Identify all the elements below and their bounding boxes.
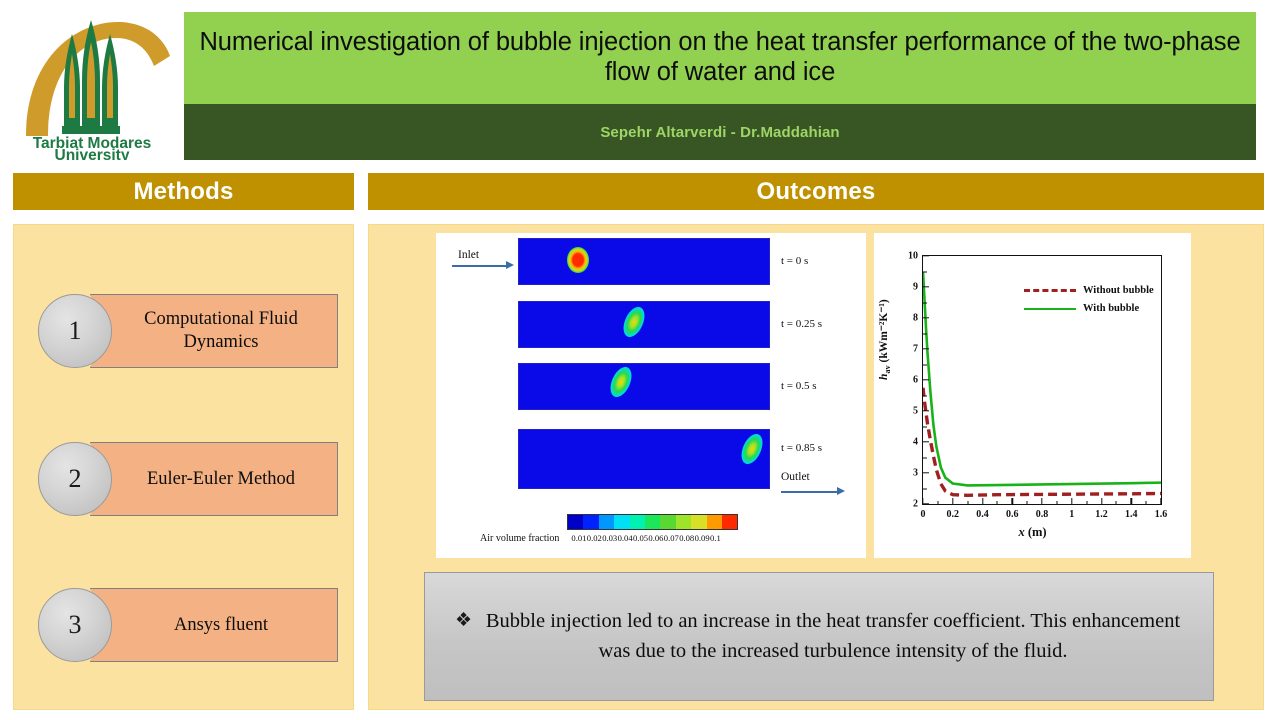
x-tick-minor	[937, 501, 938, 505]
page-title: Numerical investigation of bubble inject…	[198, 28, 1242, 87]
methods-section-header: Methods	[13, 173, 354, 210]
y-tick-mark-7	[923, 348, 929, 349]
time-label-1: t = 0.25 s	[781, 318, 822, 330]
colorbar-tick-2: 0.03	[602, 533, 617, 543]
colorbar-tick-7: 0.08	[679, 533, 694, 543]
colorbar-segment-5	[645, 515, 660, 529]
y-tick-label-7: 7	[913, 344, 918, 355]
conclusion-box: ❖ Bubble injection led to an increase in…	[424, 572, 1214, 701]
y-tick-minor	[923, 488, 927, 489]
x-tick-label-0.6: 0.6	[1006, 509, 1019, 520]
x-tick-minor	[1146, 501, 1147, 505]
y-tick-minor	[923, 271, 927, 272]
contour-figure: Inlet t = 0 s t = 0.25 s t = 0.5 s t = 0…	[436, 233, 866, 558]
contour-panel-2	[518, 363, 770, 410]
colorbar-tick-8: 0.09	[695, 533, 710, 543]
methods-panel: Computational Fluid Dynamics 1 Euler-Eul…	[13, 224, 354, 710]
x-tick-mark-1.4	[1131, 498, 1132, 504]
x-tick-mark-0.6	[1012, 498, 1013, 504]
bubble-blob-0	[567, 247, 589, 273]
colorbar-segment-10	[722, 515, 737, 529]
x-tick-label-1: 1	[1069, 509, 1074, 520]
method-label-3: Ansys fluent	[174, 614, 268, 637]
colorbar-segment-3	[614, 515, 629, 529]
y-tick-mark-5	[923, 410, 929, 411]
x-tick-mark-0.8	[1041, 498, 1042, 504]
method-label-1: Computational Fluid Dynamics	[117, 308, 325, 353]
legend-entry-with-bubble: With bubble	[1024, 303, 1139, 314]
x-tick-label-1.6: 1.6	[1155, 509, 1168, 520]
poster-title-bar: Numerical investigation of bubble inject…	[184, 12, 1256, 104]
colorbar-segment-7	[676, 515, 691, 529]
x-tick-minor	[1056, 501, 1057, 505]
x-tick-label-0.2: 0.2	[947, 509, 960, 520]
y-tick-mark-3	[923, 472, 929, 473]
bubble-blob-3	[737, 431, 766, 468]
y-tick-label-4: 4	[913, 437, 918, 448]
colorbar-tick-9: 0.1	[710, 533, 721, 543]
colorbar-segment-2	[599, 515, 614, 529]
y-tick-label-3: 3	[913, 468, 918, 479]
y-tick-label-8: 8	[913, 313, 918, 324]
y-tick-minor	[923, 395, 927, 396]
contour-panel-0	[518, 238, 770, 285]
x-tick-label-0.8: 0.8	[1036, 509, 1049, 520]
colorbar-segment-8	[691, 515, 706, 529]
x-tick-mark-0.2	[952, 498, 953, 504]
university-logo: Tarbiat Modares University	[0, 0, 182, 165]
x-tick-mark-1.6	[1160, 498, 1161, 504]
x-tick-minor	[1027, 501, 1028, 505]
colorbar-title: Air volume fraction	[480, 533, 559, 544]
time-label-3: t = 0.85 s	[781, 442, 822, 454]
methods-heading-label: Methods	[133, 178, 233, 206]
bubble-blob-1	[619, 304, 648, 341]
x-tick-label-1.4: 1.4	[1125, 509, 1138, 520]
colorbar-segment-0	[568, 515, 583, 529]
method-number-2: 2	[69, 464, 82, 494]
y-tick-label-9: 9	[913, 282, 918, 293]
x-tick-label-0: 0	[921, 509, 926, 520]
inlet-label: Inlet	[458, 249, 479, 261]
colorbar-segment-6	[660, 515, 675, 529]
method-item-2[interactable]: Euler-Euler Method 2	[14, 442, 355, 524]
colorbar-tick-5: 0.06	[648, 533, 663, 543]
y-tick-minor	[923, 426, 927, 427]
legend-label-with-bubble: With bubble	[1083, 303, 1139, 314]
series-line-0	[923, 388, 1161, 496]
colorbar-tick-3: 0.04	[618, 533, 633, 543]
conclusion-bullet-icon: ❖	[455, 607, 472, 635]
y-tick-label-10: 10	[908, 251, 918, 262]
legend-entry-without-bubble: Without bubble	[1024, 285, 1154, 296]
conclusion-text: Bubble injection led to an increase in t…	[483, 607, 1183, 666]
y-tick-minor	[923, 364, 927, 365]
method-item-3[interactable]: Ansys fluent 3	[14, 588, 355, 670]
inlet-arrow-line	[452, 265, 508, 267]
y-tick-minor	[923, 302, 927, 303]
x-tick-minor	[997, 501, 998, 505]
colorbar-segment-1	[583, 515, 598, 529]
logo-line2: University	[55, 147, 130, 160]
logo-graphic: Tarbiat Modares University	[12, 8, 172, 160]
contour-panel-3	[518, 429, 770, 489]
time-label-0: t = 0 s	[781, 255, 808, 267]
inlet-arrow-head	[506, 261, 514, 269]
method-number-circle-3: 3	[38, 588, 112, 662]
line-chart-figure: hav (kWm⁻²K⁻¹) 234567891000.20.40.60.811…	[874, 233, 1191, 558]
bubble-blob-2	[606, 363, 635, 400]
author-bar: Sepehr Altarverdi - Dr.Maddahian	[184, 104, 1256, 160]
colorbar-tick-4: 0.05	[633, 533, 648, 543]
y-tick-label-6: 6	[913, 375, 918, 386]
author-names: Sepehr Altarverdi - Dr.Maddahian	[600, 124, 839, 141]
x-tick-minor	[1116, 501, 1117, 505]
method-item-1[interactable]: Computational Fluid Dynamics 1	[14, 294, 355, 376]
y-tick-minor	[923, 333, 927, 334]
y-tick-mark-9	[923, 286, 929, 287]
x-tick-mark-0	[922, 498, 923, 504]
outlet-arrow-head	[837, 487, 845, 495]
outcomes-section-header: Outcomes	[368, 173, 1264, 210]
colorbar-tick-1: 0.02	[587, 533, 602, 543]
outlet-arrow-line	[781, 491, 839, 493]
method-number-circle-2: 2	[38, 442, 112, 516]
x-tick-label-1.2: 1.2	[1095, 509, 1108, 520]
colorbar-segment-4	[630, 515, 645, 529]
y-axis-label: hav (kWm⁻²K⁻¹)	[876, 299, 892, 380]
x-tick-label-0.4: 0.4	[976, 509, 989, 520]
legend-swatch-solid	[1024, 308, 1076, 310]
y-tick-mark-4	[923, 441, 929, 442]
time-label-2: t = 0.5 s	[781, 380, 817, 392]
contour-panel-1	[518, 301, 770, 348]
method-number-circle-1: 1	[38, 294, 112, 368]
y-tick-minor	[923, 457, 927, 458]
y-tick-label-2: 2	[913, 499, 918, 510]
x-tick-minor	[967, 501, 968, 505]
x-axis-label: x (m)	[874, 525, 1191, 540]
x-tick-mark-0.4	[982, 498, 983, 504]
y-tick-mark-8	[923, 317, 929, 318]
y-tick-mark-10	[923, 255, 929, 256]
method-label-2: Euler-Euler Method	[147, 468, 295, 491]
method-card-1[interactable]: Computational Fluid Dynamics	[90, 294, 338, 368]
outcomes-heading-label: Outcomes	[757, 178, 876, 206]
poster-root: Tarbiat Modares University Numerical inv…	[0, 0, 1280, 720]
colorbar	[567, 514, 738, 530]
method-card-3[interactable]: Ansys fluent	[90, 588, 338, 662]
outlet-label: Outlet	[781, 471, 810, 483]
method-card-2[interactable]: Euler-Euler Method	[90, 442, 338, 516]
colorbar-segment-9	[707, 515, 722, 529]
outcomes-panel: Inlet t = 0 s t = 0.25 s t = 0.5 s t = 0…	[368, 224, 1264, 710]
legend-swatch-dashed	[1024, 289, 1076, 292]
y-tick-mark-6	[923, 379, 929, 380]
x-tick-mark-1.2	[1101, 498, 1102, 504]
x-tick-minor	[1086, 501, 1087, 505]
legend-label-without-bubble: Without bubble	[1083, 285, 1154, 296]
colorbar-tick-6: 0.07	[664, 533, 679, 543]
method-number-1: 1	[69, 316, 82, 346]
method-number-3: 3	[69, 610, 82, 640]
colorbar-tick-0: 0.01	[571, 533, 586, 543]
y-tick-mark-2	[923, 503, 929, 504]
y-tick-label-5: 5	[913, 406, 918, 417]
x-tick-mark-1	[1071, 498, 1072, 504]
